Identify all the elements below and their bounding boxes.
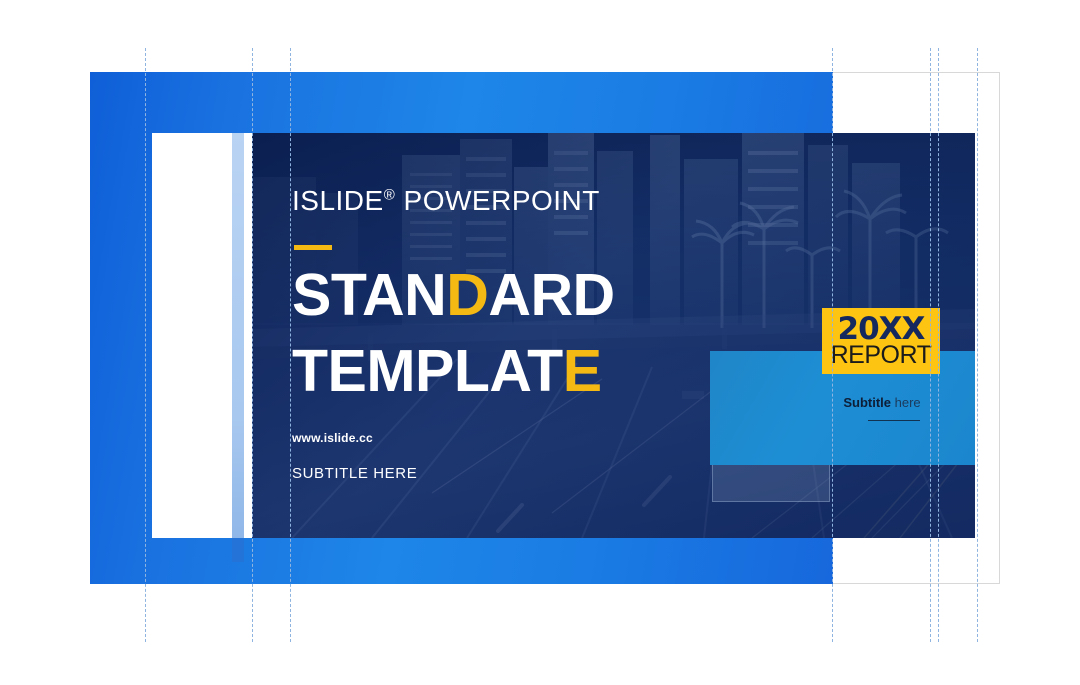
guide-line-6: [938, 48, 939, 642]
panel-subtitle-bold: Subtitle: [843, 395, 891, 410]
panel-subtitle: Subtitle here: [822, 395, 942, 410]
report-badge: 20XX REPORT: [822, 308, 940, 374]
main-title: STANDARD TEMPLATE: [292, 258, 772, 409]
title-l2-part-a: TEMPLAT: [292, 338, 563, 404]
title-l2-accent: E: [563, 338, 602, 404]
guide-line-3: [290, 48, 291, 642]
title-l1-part-b: ARD: [488, 262, 614, 328]
slide-canvas: ISLIDE® POWERPOINT STANDARD TEMPLATE www…: [0, 0, 1080, 685]
title-l1-accent: D: [446, 262, 488, 328]
guide-line-7: [977, 48, 978, 642]
guide-line-4: [832, 48, 833, 642]
title-l1-part-a: STAN: [292, 262, 446, 328]
eyebrow-product: POWERPOINT: [395, 185, 600, 216]
main-title-line-1: STANDARD: [292, 258, 772, 334]
guide-line-1: [145, 48, 146, 642]
pale-blue-strip-tail: [232, 538, 244, 562]
guide-line-5: [930, 48, 931, 642]
eyebrow-text: ISLIDE® POWERPOINT: [292, 186, 772, 215]
eyebrow-brand: ISLIDE: [292, 185, 384, 216]
slide-subtitle: SUBTITLE HERE: [292, 465, 772, 482]
website-url[interactable]: www.islide.cc: [292, 431, 772, 445]
headline-block: ISLIDE® POWERPOINT STANDARD TEMPLATE www…: [292, 186, 772, 482]
yellow-divider-rule: [294, 245, 332, 250]
pale-blue-strip: [232, 133, 244, 538]
registered-mark-icon: ®: [384, 187, 396, 204]
panel-subtitle-light: here: [891, 395, 921, 410]
panel-subtitle-underline: [868, 420, 920, 421]
badge-report-text: REPORT: [831, 343, 932, 368]
guide-line-2: [252, 48, 253, 642]
main-title-line-2: TEMPLATE: [292, 334, 772, 410]
